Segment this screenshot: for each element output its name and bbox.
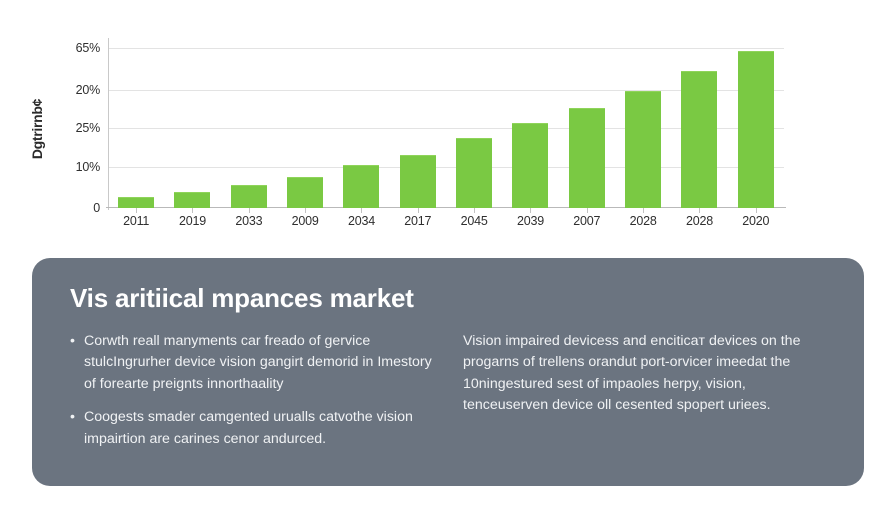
- bullet-list: Corwth reall manyments car freado of ger…: [70, 331, 437, 451]
- panel-left-column: Corwth reall manyments car freado of ger…: [70, 331, 437, 463]
- x-tick-mark: [587, 208, 588, 213]
- bar: [456, 138, 492, 208]
- y-tick-label: 65%: [44, 41, 100, 55]
- bar: [400, 155, 436, 208]
- bar-slot: [164, 40, 220, 208]
- plot-area: [108, 40, 784, 208]
- x-tick-label: 2020: [728, 214, 784, 228]
- bar-slot: [671, 40, 727, 208]
- bullet-item: Coogests smader camgented urualls catvot…: [70, 407, 437, 450]
- bar: [625, 91, 661, 208]
- bar-slot: [333, 40, 389, 208]
- y-axis-title-label: Dgtrirnb¢: [29, 99, 45, 159]
- x-tick-label: 2028: [671, 214, 727, 228]
- x-tick-label: 2045: [446, 214, 502, 228]
- panel-columns: Corwth reall manyments car freado of ger…: [70, 331, 830, 463]
- y-tick-label: 20%: [44, 83, 100, 97]
- summary-panel: Vis aritiical mpances market Corwth real…: [32, 258, 864, 486]
- bar-slot: [559, 40, 615, 208]
- bar-slot: [277, 40, 333, 208]
- bar-slot: [108, 40, 164, 208]
- bar-slot: [221, 40, 277, 208]
- panel-right-column: Vision impaired devicess and enciticaт d…: [463, 331, 830, 463]
- bar: [287, 177, 323, 208]
- x-tick-label: 2009: [277, 214, 333, 228]
- panel-paragraph: Vision impaired devicess and enciticaт d…: [463, 331, 830, 417]
- bullet-item: Corwth reall manyments car freado of ger…: [70, 331, 437, 396]
- bar: [118, 197, 154, 208]
- y-tick-label: 0: [44, 201, 100, 215]
- bar: [512, 123, 548, 208]
- bar-series: [108, 40, 784, 208]
- x-tick-label: 2033: [221, 214, 277, 228]
- x-tick-mark: [643, 208, 644, 213]
- y-axis-tick-labels: 65% 20% 25% 10% 0: [44, 0, 100, 252]
- bar: [681, 71, 717, 208]
- x-tick-mark: [192, 208, 193, 213]
- x-tick-label: 2007: [559, 214, 615, 228]
- x-tick-mark: [249, 208, 250, 213]
- bar-slot: [502, 40, 558, 208]
- x-axis-tick-labels: 2011201920332009203420172045203920072028…: [108, 214, 784, 228]
- x-tick-mark: [756, 208, 757, 213]
- bar: [231, 185, 267, 208]
- x-tick-label: 2017: [390, 214, 446, 228]
- panel-heading: Vis aritiical mpances market: [70, 284, 830, 313]
- x-tick-mark: [474, 208, 475, 213]
- x-tick-mark: [136, 208, 137, 213]
- x-tick-label: 2011: [108, 214, 164, 228]
- bar-slot: [446, 40, 502, 208]
- y-tick-label: 10%: [44, 160, 100, 174]
- bar-chart: Dgtrirnb¢ 65% 20% 25% 10% 0 201120192033…: [0, 0, 896, 252]
- x-tick-mark: [305, 208, 306, 213]
- bar: [343, 165, 379, 208]
- x-tick-label: 2019: [164, 214, 220, 228]
- x-tick-label: 2028: [615, 214, 671, 228]
- x-tick-mark: [418, 208, 419, 213]
- bar-slot: [390, 40, 446, 208]
- bar: [174, 192, 210, 208]
- x-tick-label: 2039: [502, 214, 558, 228]
- x-tick-mark: [699, 208, 700, 213]
- y-tick-label: 25%: [44, 121, 100, 135]
- x-tick-mark: [530, 208, 531, 213]
- bar-slot: [615, 40, 671, 208]
- bar: [738, 51, 774, 208]
- bar: [569, 108, 605, 208]
- x-tick-mark: [361, 208, 362, 213]
- bar-slot: [728, 40, 784, 208]
- x-tick-label: 2034: [333, 214, 389, 228]
